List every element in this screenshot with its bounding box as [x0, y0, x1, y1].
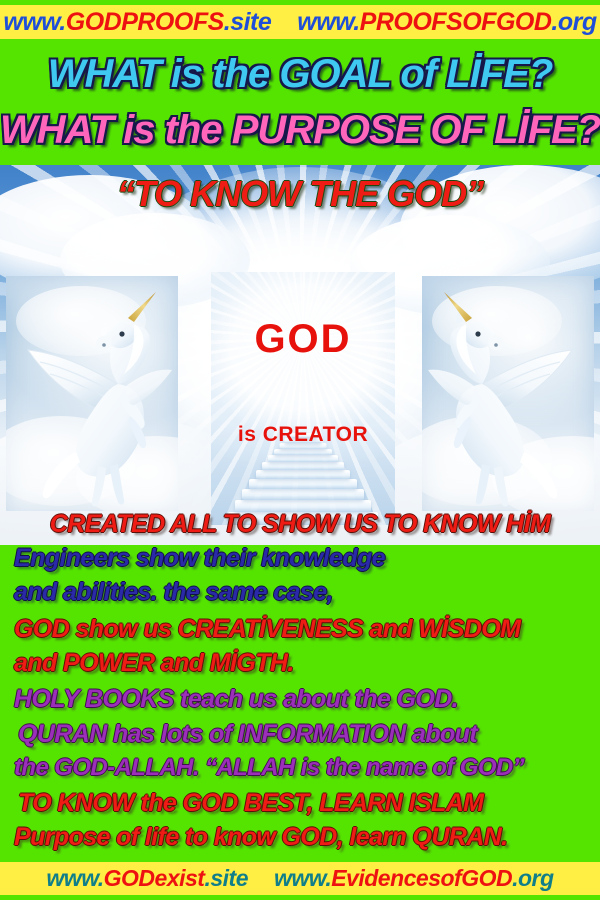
- body-line-allah-name: the GOD-ALLAH. “ALLAH is the name of GOD…: [14, 756, 600, 780]
- body-line-and-abilities: and abilities. the same case,: [14, 580, 600, 605]
- body-line-holy-books: HOLY BOOKS teach us about the GOD.: [14, 687, 600, 712]
- body-line-god-show-us: GOD show us CREATİVENESS and WİSDOM: [14, 617, 600, 642]
- body-line-purpose-of-life: Purpose of life to know GOD, learn QURAN…: [14, 825, 600, 850]
- headline-goal-of-life: WHAT is the GOAL of LİFE?: [0, 54, 600, 94]
- url-domain: EvidencesofGOD: [331, 865, 512, 891]
- stair-step: [268, 455, 338, 462]
- body-line-quran-info: QURAN has lots of INFORMATION about: [18, 722, 600, 747]
- poster-canvas: www.GODPROOFS.site www.PROOFSOFGOD.org W…: [0, 0, 600, 900]
- headline-purpose-of-life: WHAT is the PURPOSE OF LİFE?: [0, 110, 600, 150]
- stair-step: [249, 479, 357, 489]
- center-caption-god: GOD: [211, 319, 395, 359]
- body-line-learn-islam: TO KNOW the GOD BEST, LEARN ISLAM: [18, 791, 600, 816]
- headline-to-know-the-god: “TO KNOW THE GOD”: [0, 176, 600, 212]
- winged-unicorn-image-left: [6, 276, 178, 511]
- url-link-godexist[interactable]: www.GODexist.site: [46, 867, 248, 890]
- stair-step: [242, 489, 364, 500]
- stair-step: [262, 462, 344, 470]
- url-domain: GODPROOFS: [66, 8, 224, 36]
- url-prefix: www.: [297, 8, 359, 36]
- stairway-to-heaven-image: [211, 272, 395, 525]
- stair-step: [256, 470, 350, 479]
- url-domain: GODexist: [104, 865, 205, 891]
- url-link-godproofs[interactable]: www.GODPROOFS.site: [3, 10, 271, 35]
- body-line-created-all: CREATED ALL TO SHOW US TO KNOW HİM: [0, 512, 600, 537]
- unicorn-icon: [6, 276, 178, 511]
- url-prefix: www.: [46, 865, 103, 891]
- url-domain: PROOFSOFGOD: [360, 8, 552, 36]
- bottom-url-banner: www.GODexist.site www.EvidencesofGOD.org: [0, 862, 600, 895]
- center-caption-is-creator: is CREATOR: [211, 424, 395, 445]
- url-prefix: www.: [3, 8, 65, 36]
- stair-step: [274, 449, 332, 455]
- url-tld: .org: [551, 8, 596, 36]
- url-link-evidencesofgod[interactable]: www.EvidencesofGOD.org: [274, 867, 554, 890]
- url-tld: .site: [224, 8, 272, 36]
- top-url-banner: www.GODPROOFS.site www.PROOFSOFGOD.org: [0, 5, 600, 39]
- url-link-proofsofgod[interactable]: www.PROOFSOFGOD.org: [297, 10, 596, 35]
- winged-unicorn-image-right: [422, 276, 594, 511]
- url-tld: .site: [204, 865, 248, 891]
- unicorn-icon: [422, 276, 594, 511]
- body-line-and-power: and POWER and MİGTH.: [14, 651, 600, 676]
- url-prefix: www.: [274, 865, 331, 891]
- url-tld: .org: [512, 865, 553, 891]
- body-line-engineers-show: Engineers show their knowledge: [14, 546, 600, 571]
